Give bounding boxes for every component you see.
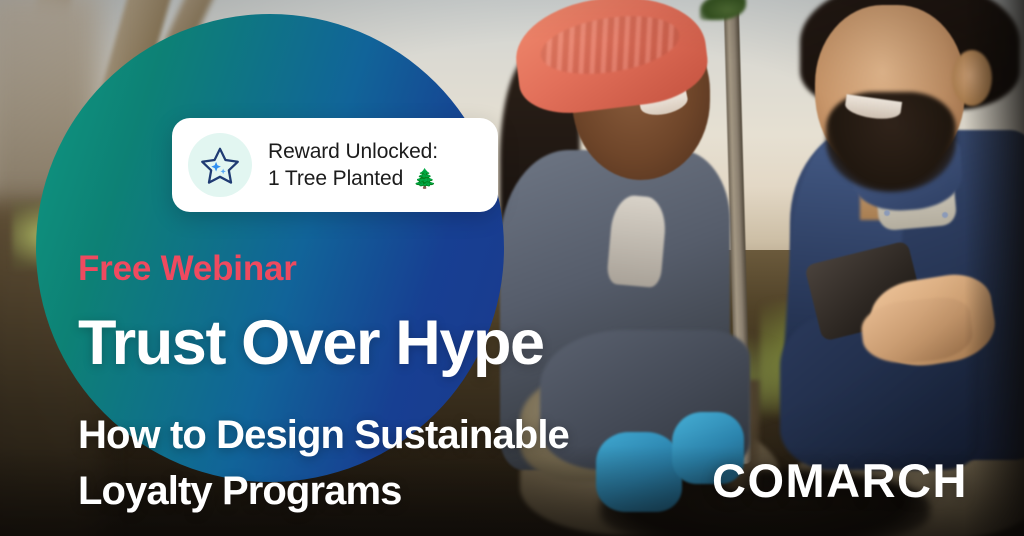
star-sparkle-icon xyxy=(199,144,241,186)
reward-line-2: 1 Tree Planted🌲 xyxy=(268,165,438,193)
reward-text-block: Reward Unlocked: 1 Tree Planted🌲 xyxy=(268,138,438,193)
tree-emoji: 🌲 xyxy=(413,169,437,190)
reward-line-2-label: 1 Tree Planted xyxy=(268,167,403,190)
reward-unlocked-card: Reward Unlocked: 1 Tree Planted🌲 xyxy=(172,118,498,212)
page-title: Trust Over Hype xyxy=(78,306,544,380)
subtitle: How to Design Sustainable Loyalty Progra… xyxy=(78,407,569,519)
subtitle-line-2: Loyalty Programs xyxy=(78,463,569,519)
reward-line-1: Reward Unlocked: xyxy=(268,138,438,165)
webinar-promo-banner: Reward Unlocked: 1 Tree Planted🌲 Free We… xyxy=(0,0,1024,536)
reward-badge xyxy=(188,133,252,197)
subtitle-line-1: How to Design Sustainable xyxy=(78,407,569,463)
comarch-logo: COMARCH xyxy=(712,455,968,507)
eyebrow-free-webinar: Free Webinar xyxy=(78,248,297,290)
